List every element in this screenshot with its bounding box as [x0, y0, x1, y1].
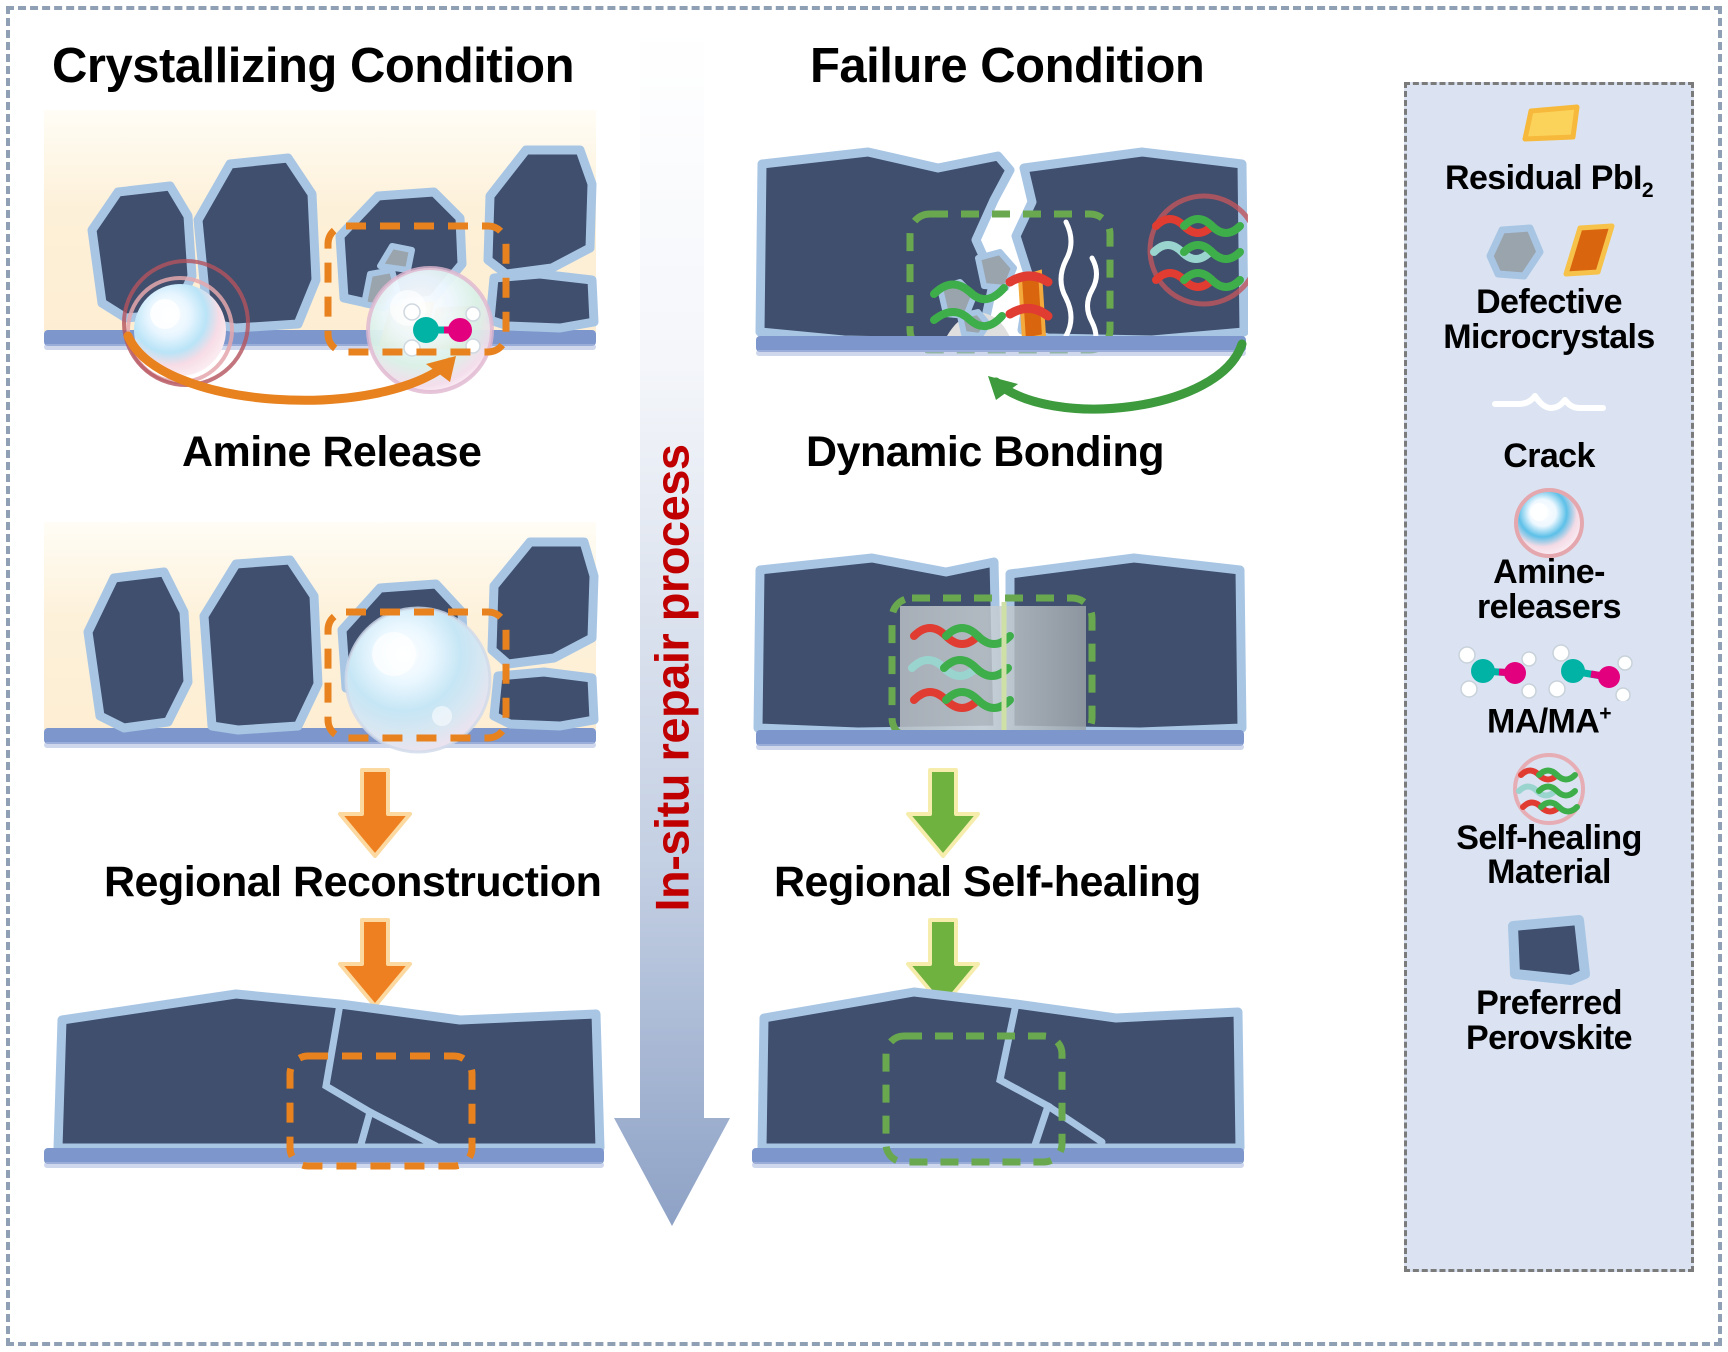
substrate-bar	[44, 1148, 604, 1164]
residual-pbi2-icon	[1511, 97, 1587, 161]
legend-item-ma: MA/MA+	[1407, 639, 1691, 739]
ma-molecule-icon	[1449, 639, 1649, 703]
legend-label-residual-pbi2: Residual PbI2	[1445, 161, 1653, 201]
process-arrow-label: In-situ repair process	[645, 445, 700, 912]
legend-item-self-healing-material: Self-healing Material	[1407, 757, 1691, 890]
panel-regional-reconstruction	[40, 960, 610, 1180]
left-step-1-label: Amine Release	[182, 428, 481, 477]
process-arrow: In-situ repair process	[612, 28, 732, 1328]
substrate-bar	[756, 730, 1244, 746]
amine-releaser-icon	[1511, 491, 1587, 555]
legend-label-ma: MA/MA+	[1487, 703, 1611, 739]
right-curved-arrow	[970, 338, 1250, 428]
panel-dynamic-bonding	[748, 540, 1248, 770]
legend-item-preferred-perovskite: Preferred Perovskite	[1407, 912, 1691, 1055]
legend-item-residual-pbi2: Residual PbI2	[1407, 97, 1691, 201]
left-curved-arrow	[120, 330, 500, 420]
panel-amine-release	[40, 520, 600, 770]
legend-label-crack: Crack	[1503, 439, 1595, 474]
legend-label-amine-releasers: Amine- releasers	[1477, 555, 1621, 624]
legend-item-amine-releasers: Amine- releasers	[1407, 491, 1691, 624]
figure-root: Crystallizing Condition Failure Conditio…	[0, 0, 1728, 1352]
right-column-title: Failure Condition	[810, 38, 1204, 94]
legend-item-crack: Crack	[1407, 375, 1691, 474]
legend-label-defective-microcrystals: Defective Microcrystals	[1443, 285, 1654, 354]
legend-panel: Residual PbI2 Defective Microcrystals Cr…	[1404, 82, 1694, 1272]
crack-icon	[1489, 375, 1609, 439]
legend-item-defective-microcrystals: Defective Microcrystals	[1407, 221, 1691, 354]
legend-label-self-healing-material: Self-healing Material	[1456, 821, 1642, 890]
right-down-arrow-1	[898, 768, 988, 858]
large-amine-bubble	[346, 608, 490, 752]
right-step-1-label: Dynamic Bonding	[806, 428, 1164, 477]
defective-microcrystals-icon	[1474, 221, 1624, 285]
left-step-2-label: Regional Reconstruction	[104, 858, 601, 907]
left-down-arrow-1	[330, 768, 420, 858]
right-step-2-label: Regional Self-healing	[774, 858, 1201, 907]
preferred-perovskite-icon	[1499, 912, 1599, 986]
left-column-title: Crystallizing Condition	[52, 38, 574, 94]
panel-regional-self-healing	[748, 960, 1248, 1180]
substrate-bar	[752, 1148, 1244, 1164]
legend-label-preferred-perovskite: Preferred Perovskite	[1466, 986, 1632, 1055]
self-healing-material-icon	[1509, 757, 1589, 821]
